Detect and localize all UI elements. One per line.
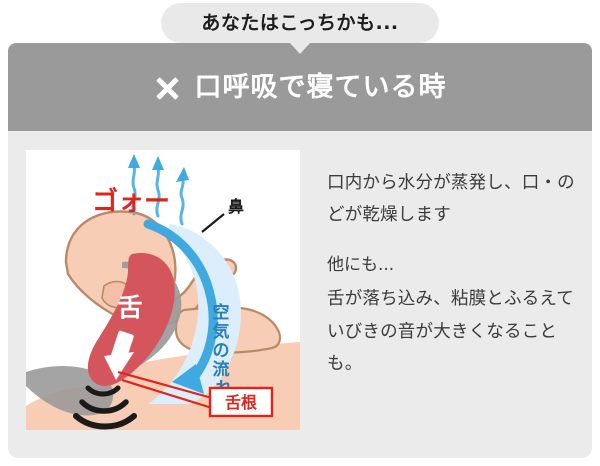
speech-bubble-tail (289, 42, 311, 54)
speech-bubble: あなたはこっちかも... (161, 3, 439, 43)
nose-label: 鼻 (228, 197, 244, 216)
airflow-label: 空 気 の 流 れ (212, 302, 236, 399)
page-title: 口呼吸で寝ている時 (195, 74, 447, 101)
paragraph-spacer (327, 232, 579, 250)
vapor-arrow-2 (152, 156, 164, 170)
description-column: 口内から水分が蒸発し、口・のどが乾燥します 他にも... 舌が落ち込み、粘膜とふ… (327, 167, 579, 380)
nose-label-group: 鼻 (202, 197, 244, 232)
tongue-label: 舌 (117, 293, 142, 322)
illustration-card: 舌 ゴォー 鼻 (26, 150, 300, 430)
description-paragraph-1: 口内から水分が蒸発し、口・のどが乾燥します (327, 167, 579, 232)
description-paragraph-2: 舌が落ち込み、粘膜とふるえていびきの音が大きくなることも。 (327, 283, 579, 380)
infographic-card: あなたはこっちかも... 口呼吸で寝ている時 (0, 0, 600, 466)
cross-mark-icon (154, 75, 181, 102)
header-bar: 口呼吸で寝ている時 (8, 43, 592, 131)
mouth-breathing-sleep-diagram: 舌 ゴォー 鼻 (26, 150, 300, 430)
vapor-arrow-3 (176, 167, 189, 182)
description-lead: 他にも... (327, 250, 579, 281)
tongue-base-label: 舌根 (225, 393, 257, 412)
airflow-label-group: 空 気 の 流 れ (212, 302, 236, 399)
speech-bubble-label: あなたはこっちかも... (201, 14, 398, 33)
vapor-group: ゴォー (92, 154, 189, 224)
snore-sound-label: ゴォー (92, 186, 170, 217)
nose-leader-line (202, 214, 224, 232)
vapor-line-3 (181, 180, 183, 224)
vapor-arrow-1 (128, 154, 140, 168)
